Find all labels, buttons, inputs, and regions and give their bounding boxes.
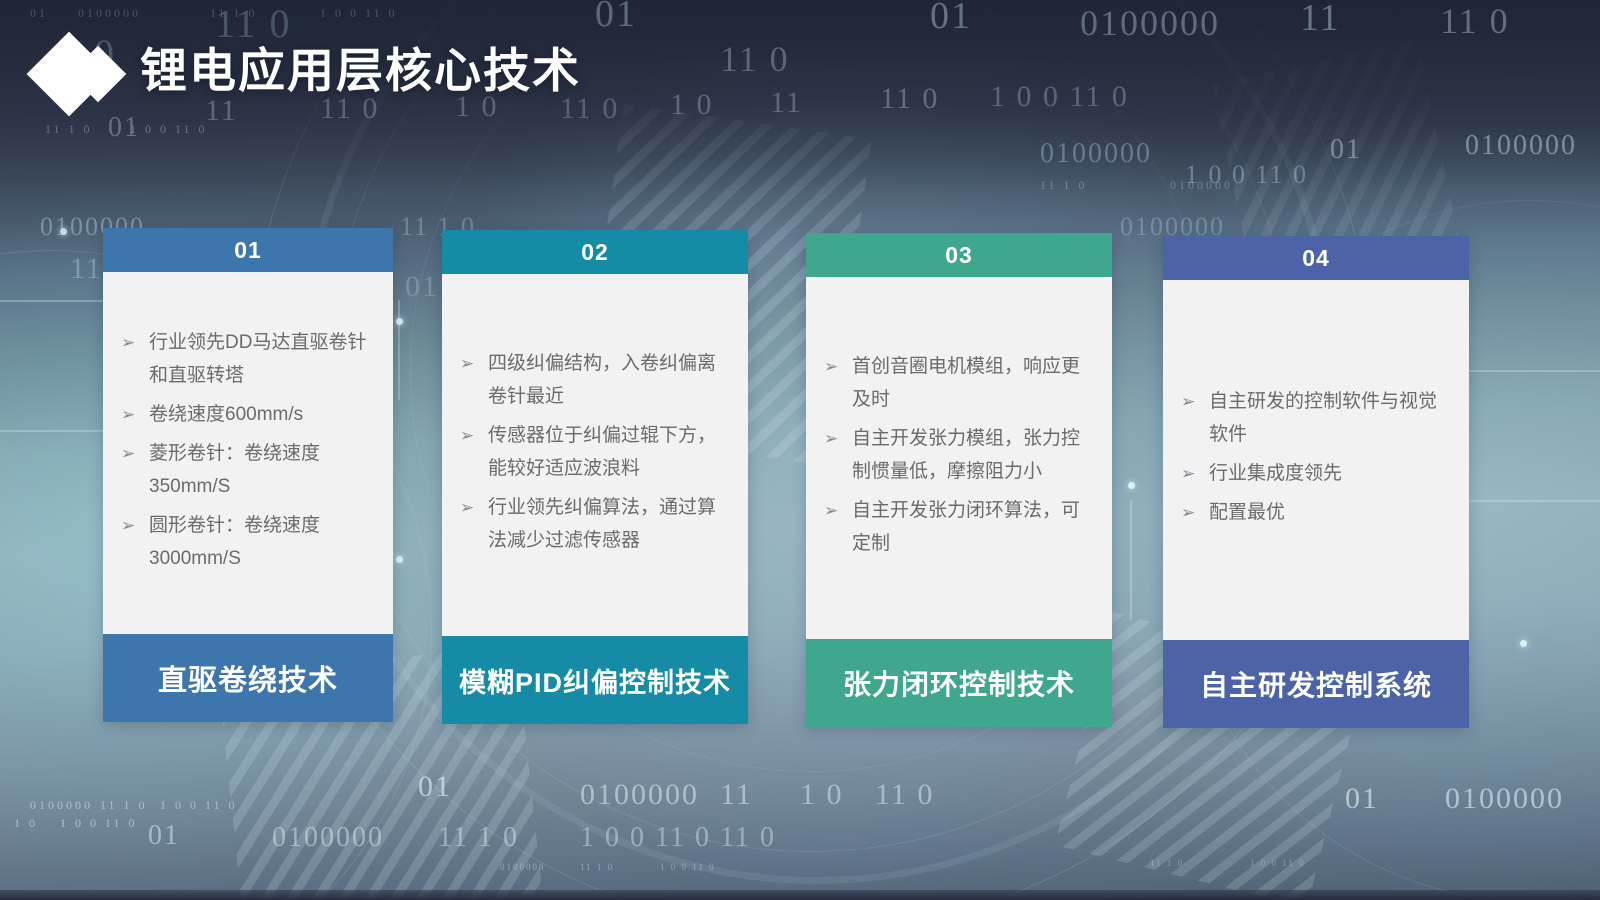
background-bottom-bar <box>0 890 1600 900</box>
binary-text: 1 0 0 11 0 <box>580 822 711 854</box>
binary-text: 11 0 <box>720 822 776 854</box>
card-title-03[interactable]: 张力闭环控制技术 <box>806 639 1112 727</box>
card-body-04: ➢自主研发的控制软件与视觉软件 ➢行业集成度领先 ➢配置最优 <box>1163 280 1469 640</box>
bullet-list-02: ➢四级纠偏结构，入卷纠偏离卷针最近 ➢传感器位于纠偏过辊下方，能较好适应波浪料 … <box>456 347 732 563</box>
arrow-bullet-icon: ➢ <box>824 350 838 383</box>
binary-text: 1 0 <box>14 816 38 831</box>
bullet-text: 自主研发的控制软件与视觉软件 <box>1209 391 1437 445</box>
arrow-bullet-icon: ➢ <box>121 437 135 470</box>
binary-text: 11 <box>720 778 753 812</box>
list-item: ➢圆形卷针：卷绕速度3000mm/S <box>117 509 377 575</box>
arrow-bullet-icon: ➢ <box>121 326 135 359</box>
bullet-text: 行业集成度领先 <box>1209 463 1342 484</box>
tech-card-04[interactable]: 04 ➢自主研发的控制软件与视觉软件 ➢行业集成度领先 ➢配置最优 自主研发控制… <box>1163 236 1469 728</box>
bullet-text: 菱形卷针：卷绕速度350mm/S <box>149 443 320 497</box>
binary-text: 0100000 <box>1080 2 1220 44</box>
arrow-bullet-icon: ➢ <box>1181 457 1195 490</box>
binary-text: 0100000 <box>272 822 384 854</box>
card-title-text: 直驱卷绕技术 <box>158 657 338 699</box>
binary-text: 1 0 0 11 0 <box>320 6 398 21</box>
circuit-node <box>1520 640 1527 647</box>
double-diamond-logo <box>26 26 146 126</box>
binary-text: 1 0 <box>800 778 844 812</box>
list-item: ➢自主研发的控制软件与视觉软件 <box>1177 385 1453 451</box>
binary-text: 01 <box>148 820 180 852</box>
binary-text: 0100000 <box>78 6 141 21</box>
card-title-04[interactable]: 自主研发控制系统 <box>1163 640 1469 728</box>
binary-text: 11 0 <box>1440 0 1510 42</box>
binary-text: 11 1 0 <box>1040 178 1088 193</box>
list-item: ➢自主开发张力模组，张力控制惯量低，摩擦阻力小 <box>820 422 1096 488</box>
binary-text: 01 <box>930 0 972 38</box>
list-item: ➢菱形卷针：卷绕速度350mm/S <box>117 437 377 503</box>
arrow-bullet-icon: ➢ <box>460 347 474 380</box>
binary-text: 0100000 <box>580 778 699 812</box>
binary-text: 0100000 <box>500 862 546 872</box>
list-item: ➢四级纠偏结构，入卷纠偏离卷针最近 <box>456 347 732 413</box>
arrow-bullet-icon: ➢ <box>121 509 135 542</box>
circuit-trace <box>0 300 120 302</box>
circuit-node <box>396 318 403 325</box>
binary-text: 11 1 0 <box>580 862 614 872</box>
arrow-bullet-icon: ➢ <box>460 419 474 452</box>
bullet-text: 配置最优 <box>1209 502 1285 523</box>
page-title: 锂电应用层核心技术 <box>140 40 581 102</box>
card-title-text: 模糊PID纠偏控制技术 <box>459 661 731 700</box>
bullet-text: 行业领先DD马达直驱卷针和直驱转塔 <box>149 332 366 386</box>
binary-text: 1 0 <box>670 88 714 122</box>
binary-text: 01 <box>1345 782 1379 816</box>
list-item: ➢首创音圈电机模组，响应更及时 <box>820 350 1096 416</box>
tech-card-02[interactable]: 02 ➢四级纠偏结构，入卷纠偏离卷针最近 ➢传感器位于纠偏过辊下方，能较好适应波… <box>442 230 748 724</box>
card-title-02[interactable]: 模糊PID纠偏控制技术 <box>442 636 748 724</box>
bullet-text: 四级纠偏结构，入卷纠偏离卷针最近 <box>488 353 716 407</box>
binary-text: 01 <box>1330 134 1362 166</box>
card-title-text: 张力闭环控制技术 <box>843 663 1075 703</box>
binary-text: 11 1 0 <box>100 798 148 813</box>
list-item: ➢配置最优 <box>1177 496 1453 529</box>
bullet-text: 首创音圈电机模组，响应更及时 <box>852 356 1080 410</box>
card-number-01: 01 <box>103 228 393 272</box>
slide-root: 01 0100000 11 1 0 1 0 0 11 0 1 0 11 0 01… <box>0 0 1600 900</box>
arrow-bullet-icon: ➢ <box>121 398 135 431</box>
bullet-text: 圆形卷针：卷绕速度3000mm/S <box>149 515 320 569</box>
binary-text: 01 <box>405 270 439 304</box>
bullet-text: 传感器位于纠偏过辊下方，能较好适应波浪料 <box>488 425 716 479</box>
card-number-02: 02 <box>442 230 748 274</box>
bullet-text: 自主开发张力闭环算法，可定制 <box>852 500 1080 554</box>
card-body-03: ➢首创音圈电机模组，响应更及时 ➢自主开发张力模组，张力控制惯量低，摩擦阻力小 … <box>806 277 1112 639</box>
bullet-text: 自主开发张力模组，张力控制惯量低，摩擦阻力小 <box>852 428 1080 482</box>
binary-text: 11 1 0 <box>438 822 519 854</box>
arrow-bullet-icon: ➢ <box>1181 496 1195 529</box>
binary-text: 01 <box>418 770 452 804</box>
list-item: ➢行业领先DD马达直驱卷针和直驱转塔 <box>117 326 377 392</box>
arrow-bullet-icon: ➢ <box>1181 385 1195 418</box>
binary-text: 11 0 <box>875 778 934 812</box>
binary-text: 1 0 0 11 0 <box>660 862 716 872</box>
binary-text: 1 0 0 11 0 <box>1250 858 1306 868</box>
circuit-trace <box>398 300 400 400</box>
binary-text: 0100000 <box>30 798 93 813</box>
tech-card-03[interactable]: 03 ➢首创音圈电机模组，响应更及时 ➢自主开发张力模组，张力控制惯量低，摩擦阻… <box>806 233 1112 727</box>
binary-text: 11 0 <box>880 82 939 116</box>
binary-text: 0100000 <box>1445 782 1564 816</box>
card-title-01[interactable]: 直驱卷绕技术 <box>103 634 393 722</box>
binary-text: 11 <box>1300 0 1341 40</box>
card-number-03: 03 <box>806 233 1112 277</box>
circuit-node <box>1128 482 1135 489</box>
arrow-bullet-icon: ➢ <box>460 491 474 524</box>
card-title-text: 自主研发控制系统 <box>1200 664 1432 704</box>
bullet-list-01: ➢行业领先DD马达直驱卷针和直驱转塔 ➢卷绕速度600mm/s ➢菱形卷针：卷绕… <box>117 326 377 581</box>
binary-text: 11 0 <box>720 38 790 80</box>
binary-text: 1 0 0 11 0 <box>160 798 238 813</box>
list-item: ➢行业领先纠偏算法，通过算法减少过滤传感器 <box>456 491 732 557</box>
circuit-trace <box>1460 370 1600 372</box>
list-item: ➢卷绕速度600mm/s <box>117 398 377 431</box>
binary-text: 01 <box>30 6 48 21</box>
list-item: ➢自主开发张力闭环算法，可定制 <box>820 494 1096 560</box>
list-item: ➢行业集成度领先 <box>1177 457 1453 490</box>
binary-text: 1 0 0 11 0 <box>60 816 138 831</box>
binary-text: 11 <box>770 86 803 120</box>
bullet-text: 行业领先纠偏算法，通过算法减少过滤传感器 <box>488 497 716 551</box>
circuit-node <box>396 556 403 563</box>
binary-text: 01 <box>595 0 637 36</box>
bullet-text: 卷绕速度600mm/s <box>149 404 303 425</box>
list-item: ➢传感器位于纠偏过辊下方，能较好适应波浪料 <box>456 419 732 485</box>
circuit-trace <box>1130 500 1132 620</box>
card-body-02: ➢四级纠偏结构，入卷纠偏离卷针最近 ➢传感器位于纠偏过辊下方，能较好适应波浪料 … <box>442 274 748 636</box>
binary-text: 1 0 0 11 0 <box>1185 160 1308 190</box>
binary-text: 11 <box>70 252 103 286</box>
binary-text: 0100000 <box>1465 130 1577 162</box>
arrow-bullet-icon: ➢ <box>824 494 838 527</box>
tech-card-01[interactable]: 01 ➢行业领先DD马达直驱卷针和直驱转塔 ➢卷绕速度600mm/s ➢菱形卷针… <box>103 228 393 722</box>
arrow-bullet-icon: ➢ <box>824 422 838 455</box>
bullet-list-04: ➢自主研发的控制软件与视觉软件 ➢行业集成度领先 ➢配置最优 <box>1177 385 1453 535</box>
card-number-04: 04 <box>1163 236 1469 280</box>
card-body-01: ➢行业领先DD马达直驱卷针和直驱转塔 ➢卷绕速度600mm/s ➢菱形卷针：卷绕… <box>103 272 393 634</box>
binary-text: 1 0 0 11 0 <box>990 80 1129 114</box>
bullet-list-03: ➢首创音圈电机模组，响应更及时 ➢自主开发张力模组，张力控制惯量低，摩擦阻力小 … <box>820 350 1096 566</box>
binary-text: 0100000 <box>1040 138 1152 170</box>
binary-text: 11 1 0 <box>1150 858 1184 868</box>
